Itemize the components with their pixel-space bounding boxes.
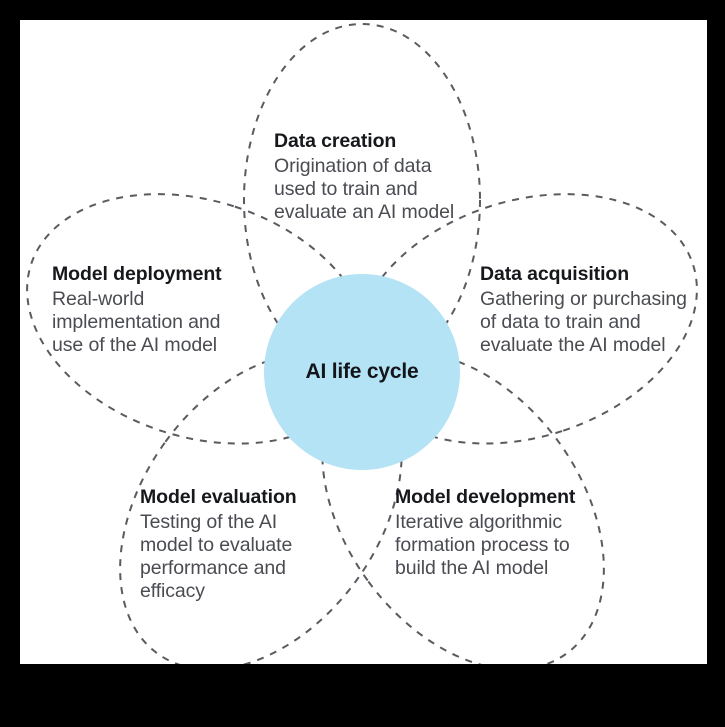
petal-label-data-acquisition: Data acquisition Gathering or purchasing… [480,263,707,357]
petal-body-model-deployment: Real-world implementation and use of the… [52,288,262,358]
petal-label-model-development: Model development Iterative algorithmic … [395,486,615,580]
petal-body-data-creation: Origination of data used to train and ev… [274,155,506,225]
figure-root: AI life cycle Data creation Origination … [0,0,725,727]
center-label: AI life cycle [306,360,419,384]
petal-label-model-deployment: Model deployment Real-world implementati… [52,263,262,357]
petal-body-model-development: Iterative algorithmic formation process … [395,511,615,581]
petal-title-model-development: Model development [395,486,615,510]
petal-title-model-deployment: Model deployment [52,263,262,287]
petal-body-model-evaluation: Testing of the AI model to evaluate perf… [140,511,340,604]
center-circle: AI life cycle [264,274,460,470]
petal-title-model-evaluation: Model evaluation [140,486,340,510]
petal-label-data-creation: Data creation Origination of data used t… [274,130,506,224]
petal-label-model-evaluation: Model evaluation Testing of the AI model… [140,486,340,604]
petal-body-data-acquisition: Gathering or purchasing of data to train… [480,288,707,358]
petal-title-data-creation: Data creation [274,130,506,154]
diagram-canvas: AI life cycle Data creation Origination … [20,20,707,664]
petal-title-data-acquisition: Data acquisition [480,263,707,287]
